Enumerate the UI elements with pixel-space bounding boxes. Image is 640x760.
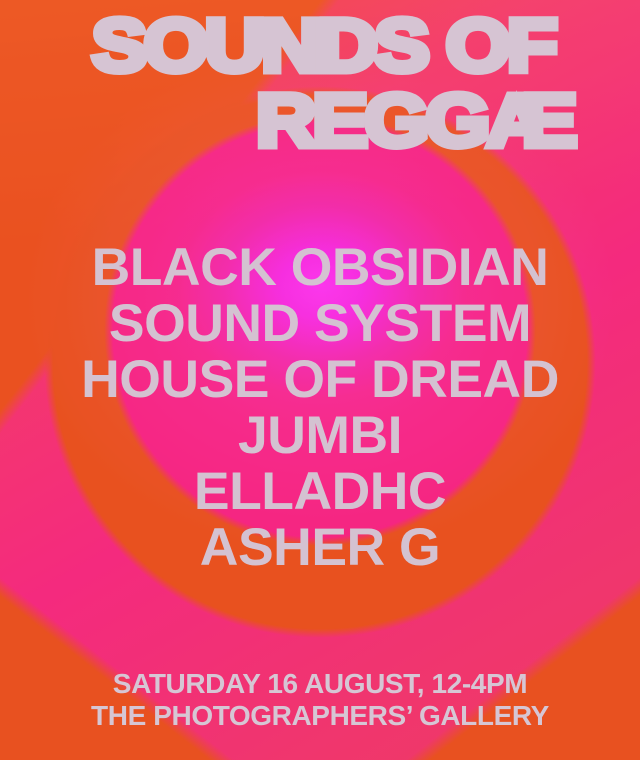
poster-title: SOUNDS OF REGGAE: [0, 16, 640, 150]
lineup-item: ASHER G: [0, 520, 640, 576]
poster-canvas: SOUNDS OF REGGAE BLACK OBSIDIAN SOUND SY…: [0, 0, 640, 760]
lineup-item: SOUND SYSTEM: [0, 296, 640, 352]
title-line-sounds-of: SOUNDS OF: [0, 16, 640, 75]
poster-content: SOUNDS OF REGGAE BLACK OBSIDIAN SOUND SY…: [0, 0, 640, 760]
lineup-item: BLACK OBSIDIAN: [0, 240, 640, 296]
footer-venue: THE PHOTOGRAPHERS’ GALLERY: [0, 700, 640, 732]
title-ae-ligature: AE: [487, 91, 553, 150]
artist-lineup: BLACK OBSIDIAN SOUND SYSTEM HOUSE OF DRE…: [0, 240, 640, 576]
poster-footer: SATURDAY 16 AUGUST, 12-4PM THE PHOTOGRAP…: [0, 668, 640, 732]
lineup-item: JUMBI: [0, 408, 640, 464]
lineup-item: ELLADHC: [0, 464, 640, 520]
title-line-reggae: REGGAE: [0, 91, 640, 150]
footer-date-time: SATURDAY 16 AUGUST, 12-4PM: [0, 668, 640, 700]
title-reggae-prefix: REGG: [256, 79, 487, 162]
lineup-item: HOUSE OF DREAD: [0, 352, 640, 408]
